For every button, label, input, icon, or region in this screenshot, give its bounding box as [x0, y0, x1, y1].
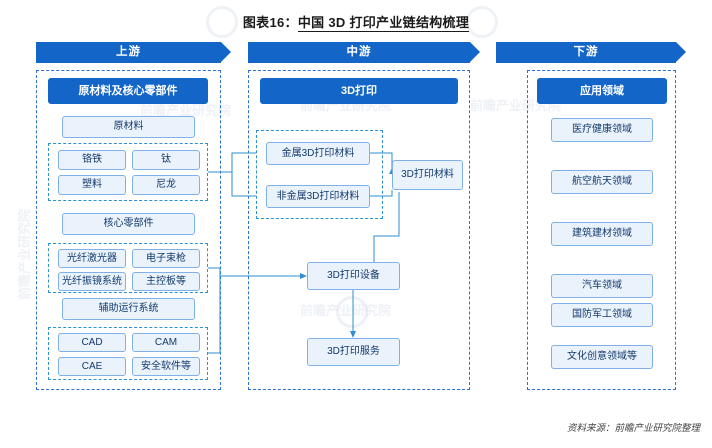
midstream-node-material[interactable]: 3D打印材料 — [392, 160, 463, 190]
midstream-node-service[interactable]: 3D打印服务 — [307, 338, 400, 366]
title-prefix: 图表16： — [243, 15, 298, 30]
upstream-item-cad[interactable]: CAD — [58, 333, 126, 352]
midstream-material-metal[interactable]: 金属3D打印材料 — [266, 142, 370, 165]
upstream-item-titanium[interactable]: 钛 — [132, 150, 200, 170]
downstream-item-defense[interactable]: 国防军工领域 — [551, 303, 653, 327]
watermark-text: 前瞻产业研究院 — [14, 209, 33, 300]
upstream-group-label-core-parts[interactable]: 核心零部件 — [62, 213, 195, 235]
midstream-node-equipment[interactable]: 3D打印设备 — [307, 262, 400, 290]
column-header-upstream: 上游 — [36, 42, 221, 63]
downstream-item-construction[interactable]: 建筑建材领域 — [551, 222, 653, 246]
column-header-downstream: 下游 — [496, 42, 676, 63]
upstream-item-electron-beam-gun[interactable]: 电子束枪 — [132, 249, 200, 268]
page-title: 图表16：中国 3D 打印产业链结构梳理 — [0, 12, 712, 31]
source-note: 资料来源：前瞻产业研究院整理 — [567, 420, 700, 434]
downstream-item-medical[interactable]: 医疗健康领域 — [551, 118, 653, 142]
upstream-item-cam[interactable]: CAM — [132, 333, 200, 352]
midstream-material-nonmetal[interactable]: 非金属3D打印材料 — [266, 185, 370, 208]
upstream-item-fiber-galvanometer-system[interactable]: 光纤振镜系统 — [58, 272, 126, 291]
upstream-item-fiber-laser[interactable]: 光纤激光器 — [58, 249, 126, 268]
downstream-item-aerospace[interactable]: 航空航天领域 — [551, 170, 653, 194]
upstream-item-cae[interactable]: CAE — [58, 357, 126, 376]
midstream-header-box[interactable]: 3D打印 — [260, 78, 458, 104]
title-main: 中国 3D 打印产业链结构梳理 — [298, 15, 469, 32]
downstream-item-automotive[interactable]: 汽车领域 — [551, 274, 653, 298]
upstream-item-plastic[interactable]: 塑料 — [58, 175, 126, 195]
upstream-item-safety-software[interactable]: 安全软件等 — [132, 357, 200, 376]
upstream-item-nylon[interactable]: 尼龙 — [132, 175, 200, 195]
column-header-midstream: 中游 — [248, 42, 470, 63]
upstream-group-label-aux-system[interactable]: 辅助运行系统 — [62, 298, 195, 320]
upstream-header-box[interactable]: 原材料及核心零部件 — [48, 78, 208, 104]
diagram-page: 前瞻产业研究院 前瞻产业研究院 前瞻产业研究院 前瞻产业研究院 前瞻产业研究院 … — [0, 0, 712, 448]
upstream-group-label-raw-material[interactable]: 原材料 — [62, 116, 195, 138]
upstream-item-chrome-iron[interactable]: 铬铁 — [58, 150, 126, 170]
upstream-item-main-control-board[interactable]: 主控板等 — [132, 272, 200, 291]
downstream-item-cultural-creative[interactable]: 文化创意领域等 — [551, 345, 653, 369]
downstream-header-box[interactable]: 应用领域 — [537, 78, 667, 104]
